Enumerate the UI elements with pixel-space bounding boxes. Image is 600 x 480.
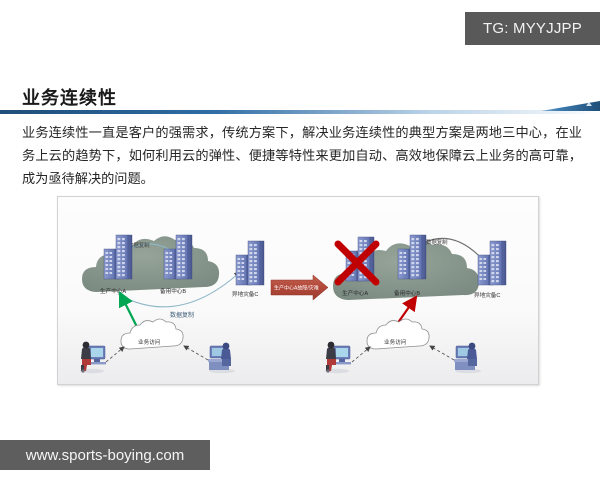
- replication-label-right-top: 数据复制: [426, 238, 448, 246]
- replication-label-left-remote: 数据复制: [170, 311, 194, 319]
- failure-transition-label: 生产中心A故障/灾难: [274, 285, 319, 292]
- access-cloud-label-right: 业务访问: [384, 338, 407, 346]
- node-label-remote-dr-c-left: 异地灾备C: [232, 290, 258, 298]
- node-label-backup-center-b-left: 备用中心B: [160, 287, 186, 295]
- tab-marker-icon: [586, 102, 592, 106]
- body-paragraph: 业务连续性一直是客户的强需求，传统方案下，解决业务连续性的典型方案是两地三中心，…: [22, 121, 582, 190]
- access-cloud-label-left: 业务访问: [138, 338, 161, 346]
- watermark-bottom-url: www.sports-boying.com: [0, 440, 210, 470]
- watermark-top: TG: MYYJJPP: [465, 12, 600, 45]
- diagram-canvas: 数据复制 数据复制 生产中心A 备用中心B 异地灾备C: [58, 197, 538, 384]
- node-label-prod-center-a-right: 生产中心A: [342, 289, 368, 297]
- node-label-backup-center-b-right: 备用中心B: [394, 289, 420, 297]
- slide-canvas: 业务连续性 业务连续性一直是客户的强需求，传统方案下，解决业务连续性的典型方案是…: [0, 0, 600, 480]
- architecture-diagram: 数据复制 数据复制 生产中心A 备用中心B 异地灾备C: [57, 196, 539, 385]
- title-divider: [0, 110, 600, 114]
- node-label-prod-center-a-left: 生产中心A: [100, 287, 126, 295]
- page-title: 业务连续性: [22, 84, 117, 110]
- node-label-remote-dr-c-right: 异地灾备C: [474, 291, 500, 299]
